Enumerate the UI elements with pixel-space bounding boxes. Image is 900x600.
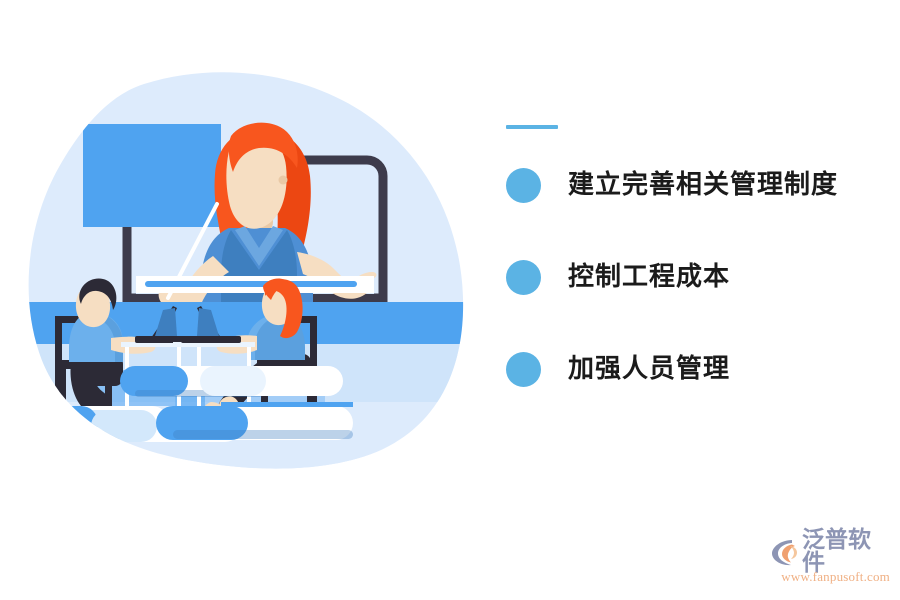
list-item[interactable]: 控制工程成本: [506, 259, 896, 295]
list-item-label: 建立完善相关管理制度: [568, 172, 838, 198]
logo-url: www.fanpusoft.com: [768, 569, 890, 585]
bullet-dot-icon: [506, 352, 541, 387]
bullet-list: 建立完善相关管理制度 控制工程成本 加强人员管理: [506, 125, 896, 387]
list-item[interactable]: 加强人员管理: [506, 351, 896, 387]
screen-progress-bar: [136, 276, 374, 293]
accent-rule: [506, 125, 558, 129]
list-item[interactable]: 建立完善相关管理制度: [506, 167, 896, 203]
presentation-board: [83, 124, 221, 227]
list-item-label: 加强人员管理: [568, 356, 730, 382]
bullet-dot-icon: [506, 260, 541, 295]
list-item-label: 控制工程成本: [568, 264, 730, 290]
brand-logo[interactable]: 泛普软件 www.fanpusoft.com: [768, 536, 890, 588]
bullet-dot-icon: [506, 168, 541, 203]
logo-lockup: 泛普软件: [768, 536, 890, 568]
online-classroom-illustration: [25, 70, 485, 480]
fanpu-logo-mark-icon: [768, 536, 800, 568]
slide-canvas: 建立完善相关管理制度 控制工程成本 加强人员管理 泛普软件 www.fanpus…: [0, 0, 900, 600]
